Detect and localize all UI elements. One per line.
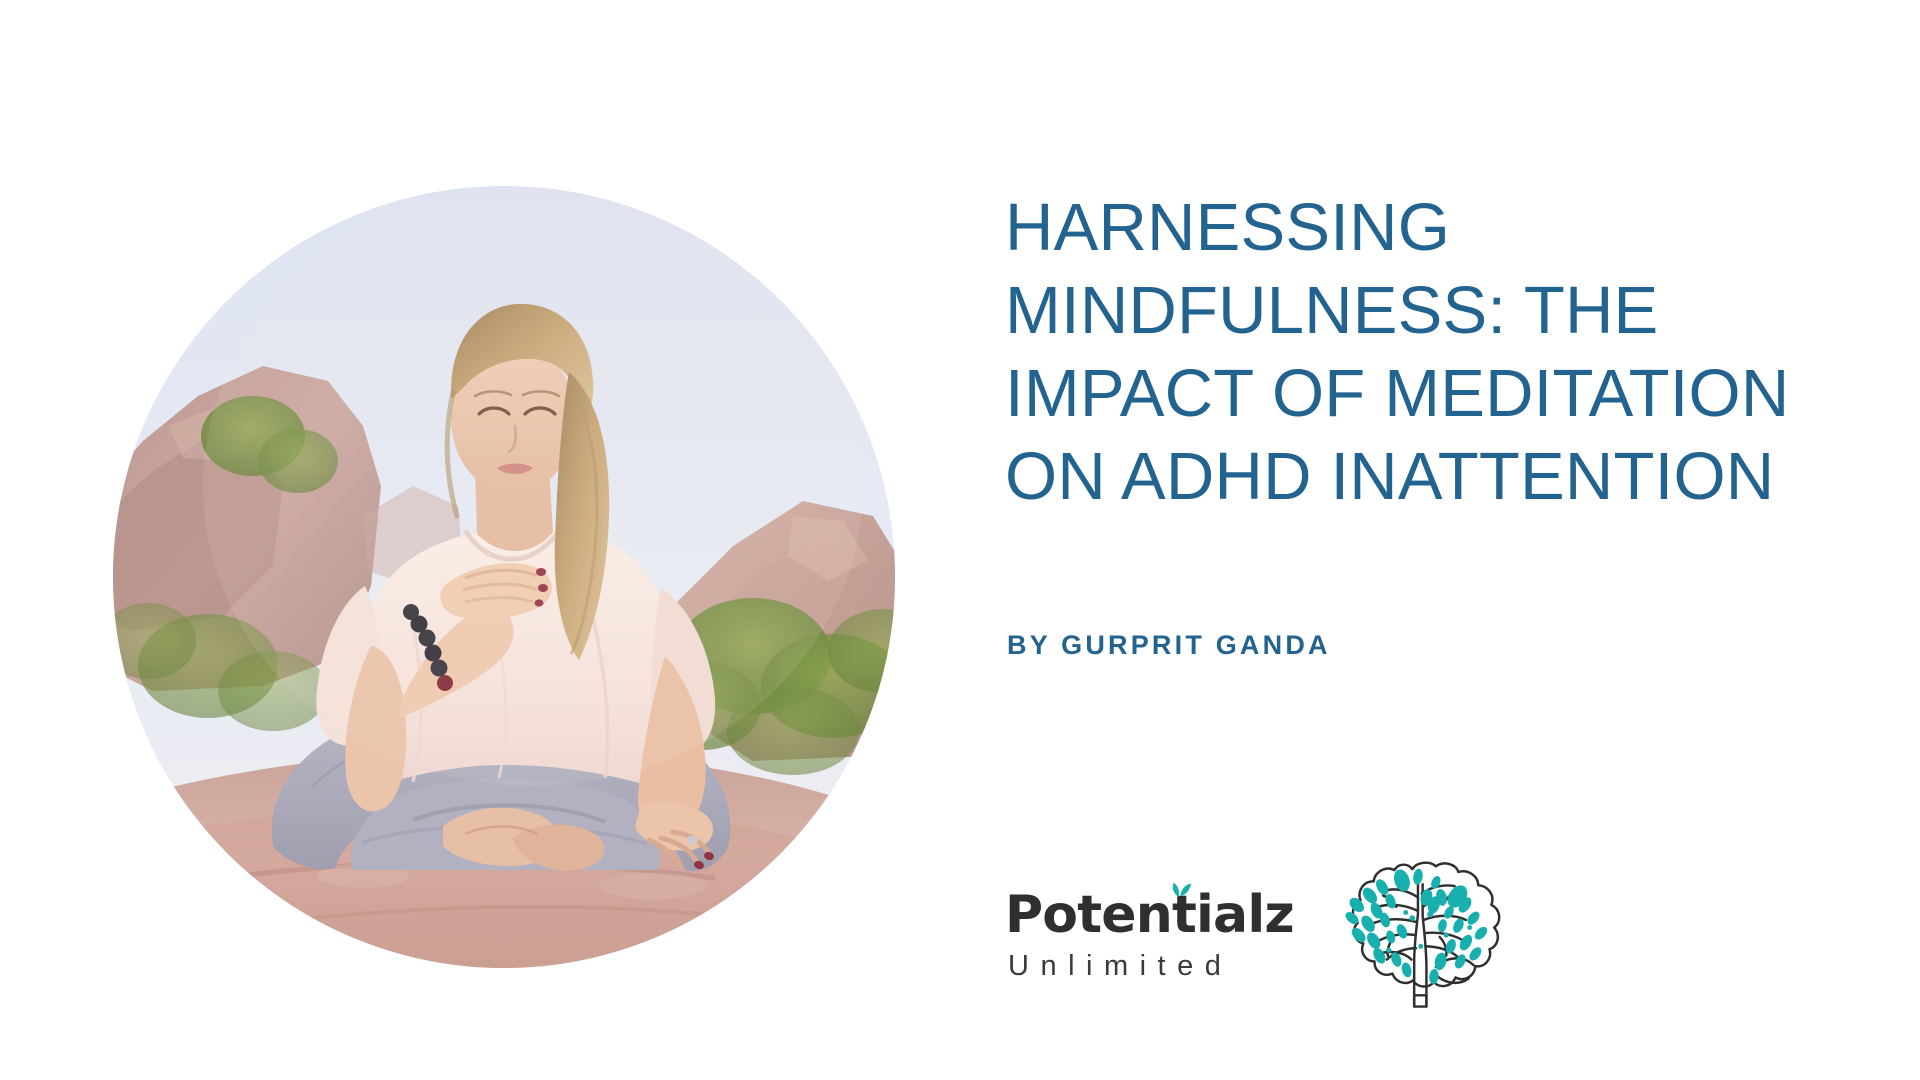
page-title: HARNESSING MINDFULNESS: THE IMPACT OF ME… — [1005, 186, 1805, 518]
logo-subword-label: Unlimited — [1008, 950, 1232, 983]
content-column: HARNESSING MINDFULNESS: THE IMPACT OF ME… — [1005, 0, 1825, 1080]
headline-line-4: ON ADHD INATTENTION — [1005, 439, 1774, 514]
author-byline: BY GURPRIT GANDA — [1007, 630, 1331, 661]
headline-line-1: HARNESSING — [1005, 190, 1450, 265]
leaf-accent-icon — [1167, 876, 1193, 898]
logo-wordmark-block: Potentialz Unlimited — [1005, 889, 1294, 982]
headline-line-2: MINDFULNESS: THE — [1005, 273, 1658, 348]
woman-meditating-on-rock-photo — [113, 186, 895, 968]
brand-logo-lockup[interactable]: Potentialz Unlimited — [1005, 856, 1512, 1016]
logo-wordmark-label: Potentialz — [1005, 885, 1294, 945]
poster-canvas: HARNESSING MINDFULNESS: THE IMPACT OF ME… — [0, 0, 1920, 1080]
logo-wordmark-text: Potentialz — [1005, 889, 1294, 942]
headline-line-3: IMPACT OF MEDITATION — [1005, 356, 1789, 431]
brain-tree-logo-icon — [1322, 856, 1512, 1016]
hero-photo-circle — [113, 186, 895, 968]
